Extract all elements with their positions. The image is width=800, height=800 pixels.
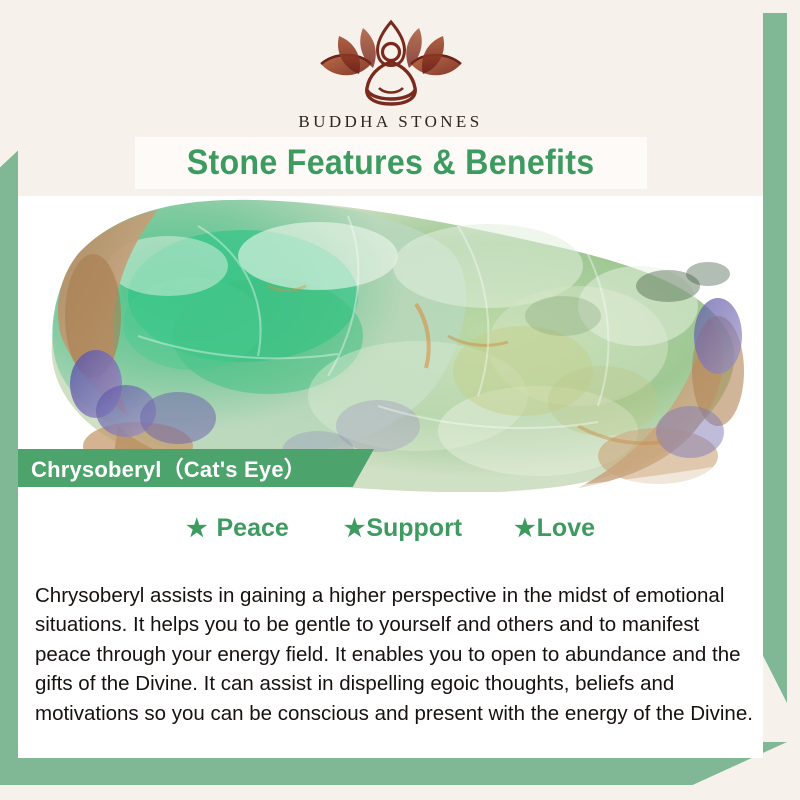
stone-description: Chrysoberyl assists in gaining a higher … (35, 581, 753, 729)
header: BUDDHA STONES Stone Features & Benefits (18, 0, 763, 198)
stone-name: Chrysoberyl（Cat's Eye） (18, 452, 306, 484)
title-panel: Stone Features & Benefits (135, 137, 647, 189)
infographic-card: BUDDHA STONES Stone Features & Benefits (0, 0, 800, 800)
stone-name-banner: Chrysoberyl（Cat's Eye） (18, 449, 374, 487)
benefit-label: Love (537, 514, 595, 543)
benefits-row: ★ Peace ★ Support ★ Love (18, 514, 763, 543)
star-icon: ★ (344, 517, 366, 541)
benefit-support: ★ Support (344, 514, 462, 543)
brand-logo: BUDDHA STONES (18, 18, 763, 132)
lotus-meditation-icon (305, 18, 477, 110)
benefit-love: ★ Love (514, 514, 595, 543)
stone-photo (18, 196, 763, 492)
star-icon: ★ (186, 517, 208, 541)
benefit-label: Support (366, 514, 462, 543)
brand-name: BUDDHA STONES (298, 112, 482, 132)
benefit-label: Peace (217, 514, 289, 543)
page-title: Stone Features & Benefits (187, 143, 595, 183)
benefit-peace: ★ Peace (186, 514, 289, 543)
star-icon: ★ (514, 517, 536, 541)
